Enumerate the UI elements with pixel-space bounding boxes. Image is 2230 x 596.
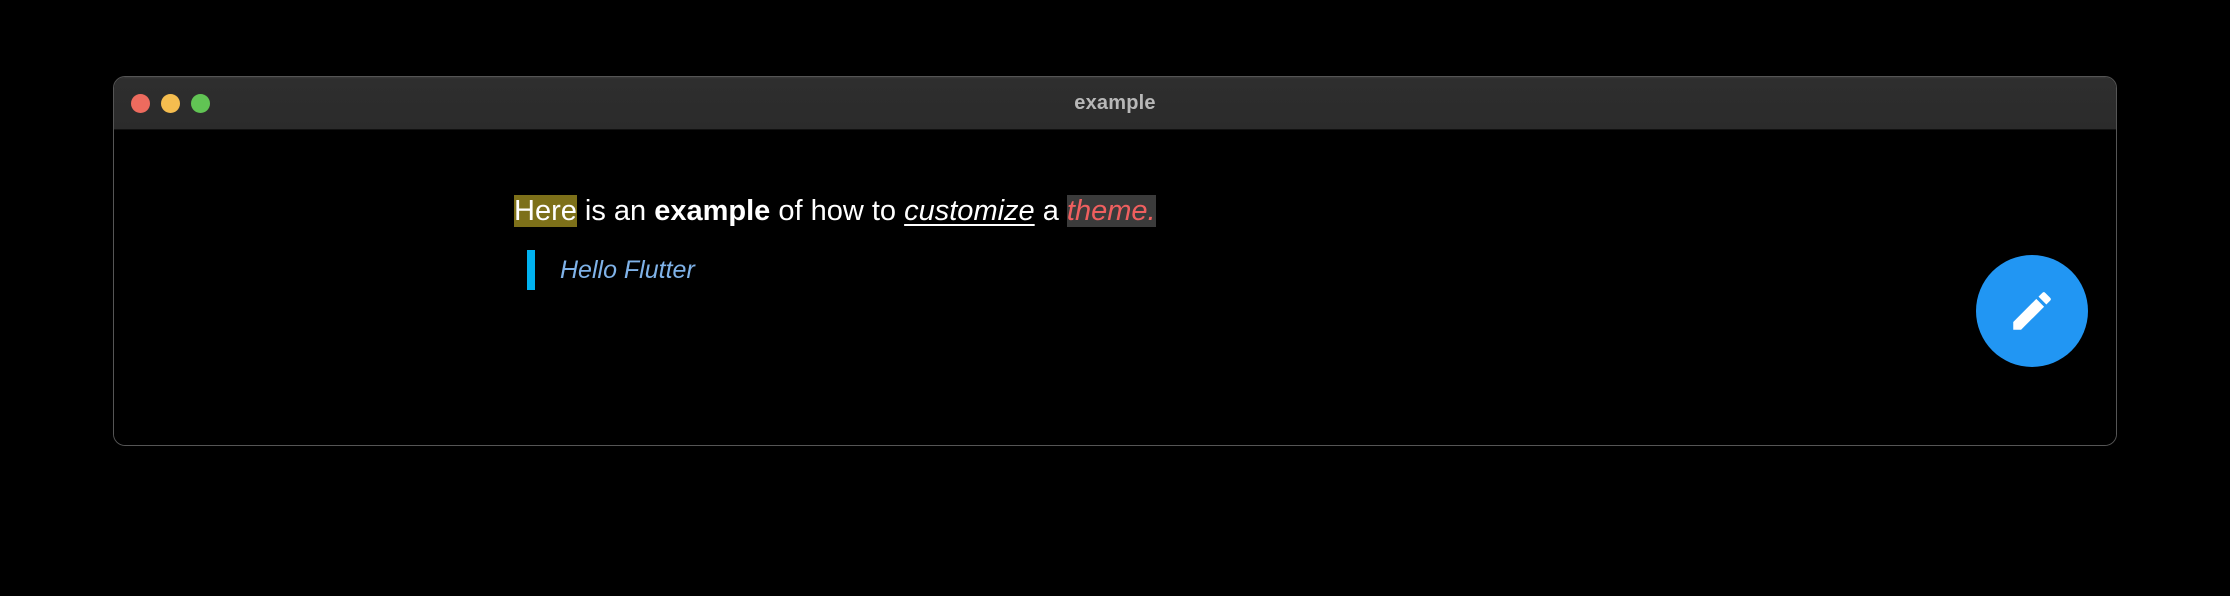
screen: example Here is an example of how to cus… (0, 0, 2230, 596)
window-body: Here is an example of how to customize a… (114, 130, 2116, 445)
text-segment-plain-3: a (1035, 195, 1067, 227)
text-segment-bold: example (654, 195, 770, 227)
minimize-button[interactable] (161, 94, 180, 113)
text-segment-italic-underline: customize (904, 195, 1035, 227)
blockquote-bar (527, 250, 535, 290)
text-segment-plain-1: is an (577, 195, 654, 227)
app-window: example Here is an example of how to cus… (113, 76, 2117, 446)
blockquote: Hello Flutter (527, 250, 695, 290)
window-controls (131, 77, 210, 129)
text-segment-theme: theme. (1067, 195, 1156, 227)
window-title: example (114, 92, 2116, 115)
text-segment-highlight: Here (514, 195, 577, 227)
text-segment-plain-2: of how to (770, 195, 904, 227)
rich-text-paragraph: Here is an example of how to customize a… (514, 193, 1156, 229)
pencil-icon (2007, 286, 2057, 336)
maximize-button[interactable] (191, 94, 210, 113)
edit-fab-button[interactable] (1976, 255, 2088, 367)
blockquote-text: Hello Flutter (560, 256, 695, 285)
window-titlebar[interactable]: example (114, 77, 2116, 130)
close-button[interactable] (131, 94, 150, 113)
